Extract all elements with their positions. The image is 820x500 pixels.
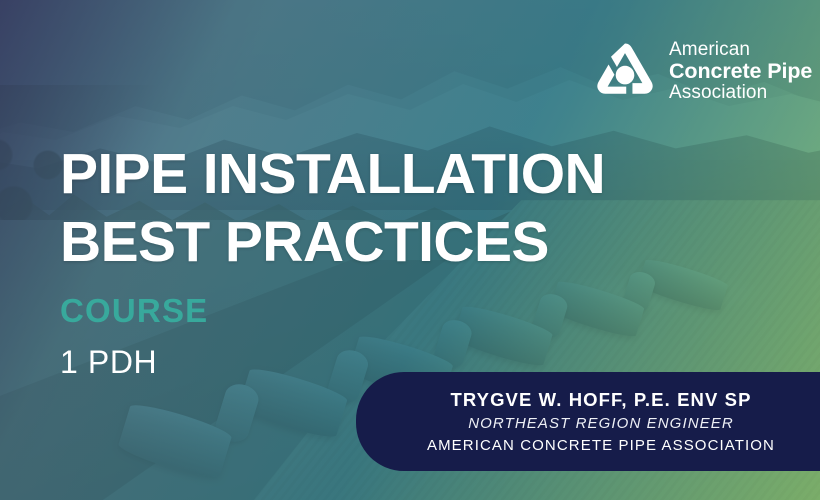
headline-block: PIPE INSTALLATION BEST PRACTICES COURSE … [60, 140, 605, 378]
course-promo-card: American Concrete Pipe Association PIPE … [0, 0, 820, 500]
page-title-line-1: PIPE INSTALLATION [60, 140, 605, 208]
speaker-name: TRYGVE W. HOFF, P.E. ENV SP [450, 389, 751, 410]
speaker-banner: TRYGVE W. HOFF, P.E. ENV SP NORTHEAST RE… [356, 372, 820, 471]
page-title-line-2: BEST PRACTICES [60, 208, 605, 276]
speaker-organization: AMERICAN CONCRETE PIPE ASSOCIATION [427, 437, 775, 454]
acpa-logo[interactable]: American Concrete Pipe Association [594, 40, 812, 103]
logo-line-3: Association [669, 83, 812, 103]
logo-line-1: American [669, 40, 812, 60]
course-kicker: COURSE [60, 294, 605, 327]
acpa-triangle-logo-icon [594, 41, 656, 103]
speaker-role: NORTHEAST REGION ENGINEER [468, 415, 734, 432]
acpa-logo-wordmark: American Concrete Pipe Association [669, 40, 812, 103]
logo-line-2: Concrete Pipe [669, 60, 812, 83]
